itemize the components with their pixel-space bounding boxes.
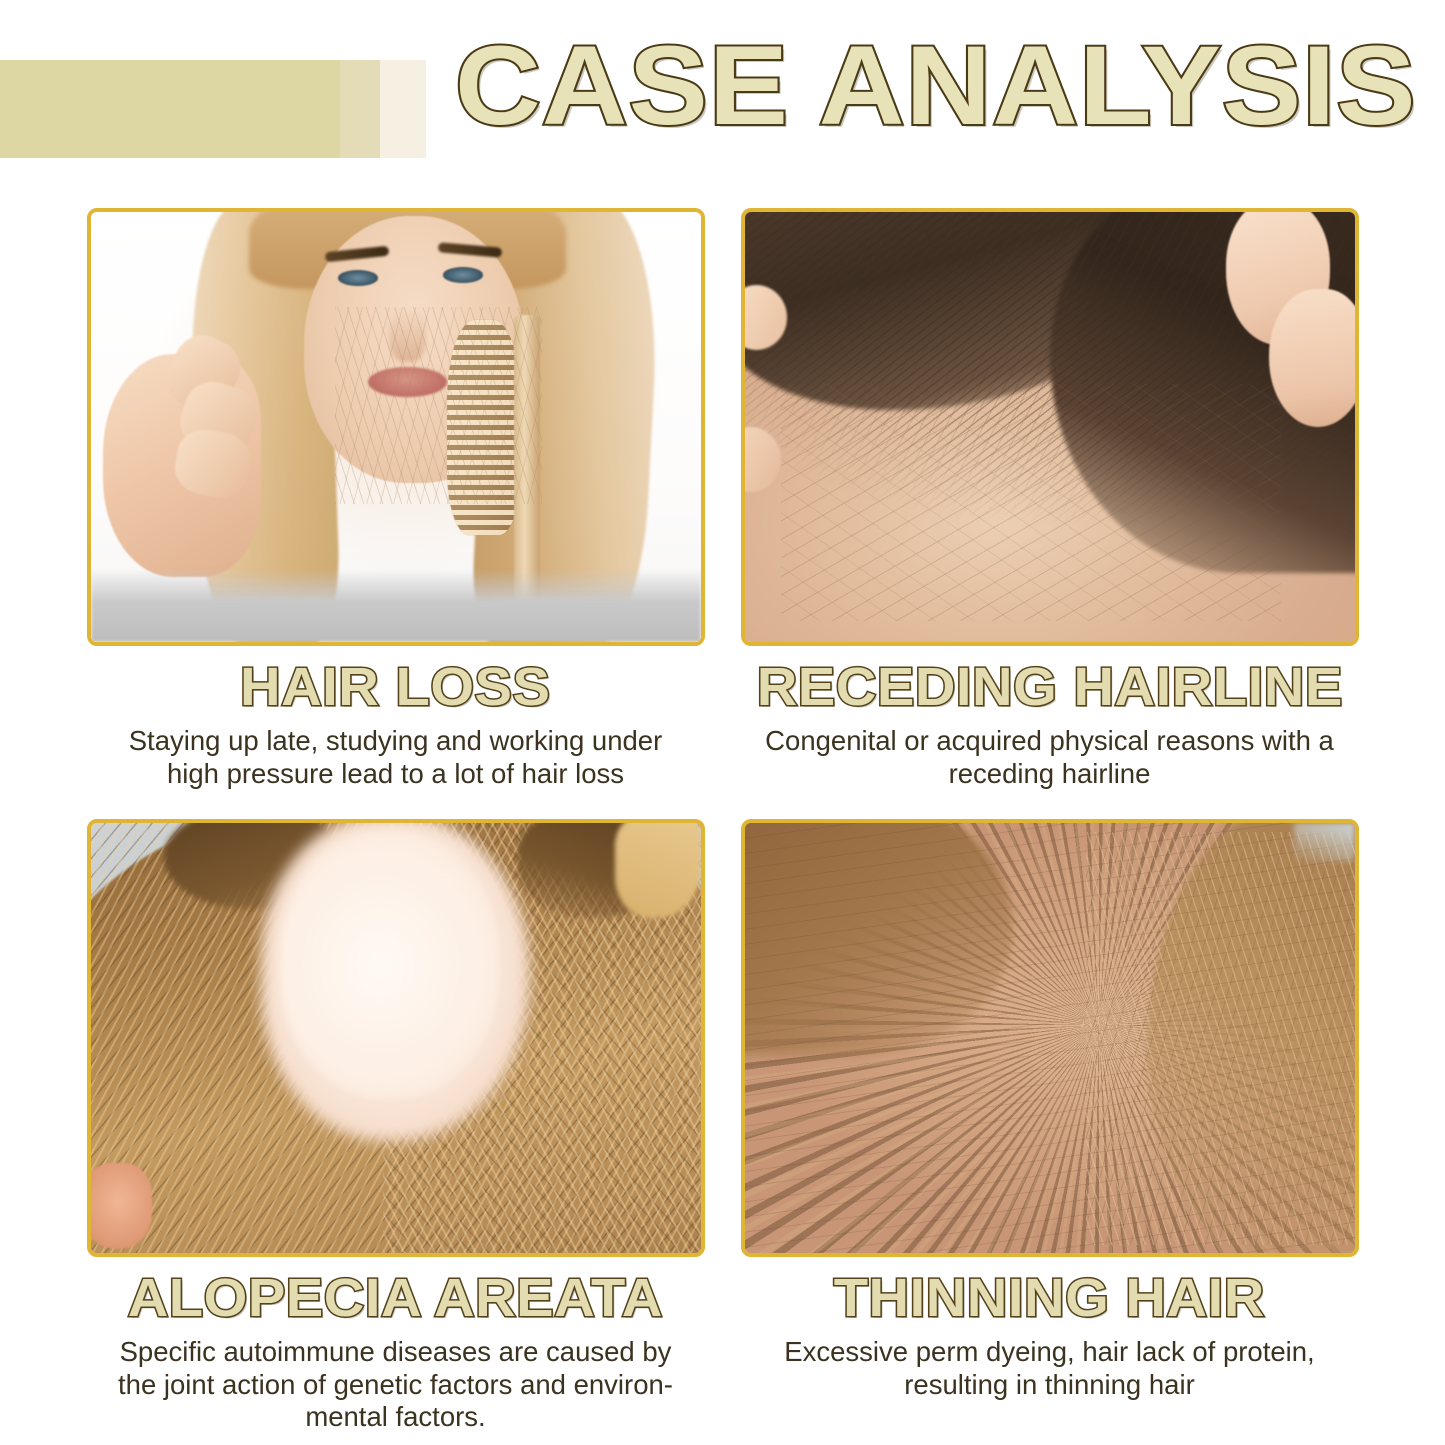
photo-frame-hair-loss xyxy=(87,208,705,646)
photo-thinning-hair xyxy=(745,823,1355,1253)
accent-bar-segment-3 xyxy=(380,60,426,158)
photo-receding-hairline xyxy=(745,212,1355,642)
card-description-thinning-hair: Excessive perm dyeing, hair lack of prot… xyxy=(760,1336,1340,1401)
card-description-hair-loss: Staying up late, studying and working un… xyxy=(106,725,686,790)
card-title-receding-hairline: RECEDING HAIRLINE xyxy=(756,660,1342,715)
case-card-hair-loss[interactable]: HAIR LOSS Staying up late, studying and … xyxy=(87,208,705,801)
card-title-alopecia-areata: ALOPECIA AREATA xyxy=(128,1271,663,1326)
case-card-thinning-hair[interactable]: THINNING HAIR Excessive perm dyeing, hai… xyxy=(741,819,1359,1445)
photo-frame-thinning-hair xyxy=(741,819,1359,1257)
card-title-thinning-hair: THINNING HAIR xyxy=(834,1271,1265,1326)
case-card-alopecia-areata[interactable]: ALOPECIA AREATA Specific autoimmune dise… xyxy=(87,819,705,1445)
blonde-hair-strip xyxy=(615,823,700,918)
sparse-hair-area xyxy=(781,384,1281,621)
page-header: CASE ANALYSIS xyxy=(0,0,1445,200)
page-title: CASE ANALYSIS xyxy=(455,30,1417,142)
card-description-alopecia-areata: Specific autoimmune diseases are caused … xyxy=(106,1336,686,1433)
bald-patch-core xyxy=(280,832,500,1099)
accent-bar-segment-1 xyxy=(0,60,340,158)
eye-left xyxy=(338,270,378,285)
loose-hair-strands xyxy=(335,307,542,505)
header-accent-bar xyxy=(0,60,426,158)
photo-alopecia-areata xyxy=(91,823,701,1253)
ear xyxy=(91,1163,152,1249)
shirt xyxy=(91,569,701,642)
photo-frame-receding-hairline xyxy=(741,208,1359,646)
case-card-receding-hairline[interactable]: RECEDING HAIRLINE Congenital or acquired… xyxy=(741,208,1359,801)
background-sky xyxy=(1294,823,1355,862)
photo-hair-loss xyxy=(91,212,701,642)
photo-frame-alopecia-areata xyxy=(87,819,705,1257)
eye-right xyxy=(443,267,483,282)
card-description-receding-hairline: Congenital or acquired physical reasons … xyxy=(760,725,1340,790)
card-title-hair-loss: HAIR LOSS xyxy=(240,660,550,715)
case-card-grid: HAIR LOSS Staying up late, studying and … xyxy=(0,200,1445,1445)
accent-bar-segment-2 xyxy=(340,60,380,158)
hair-strand-overlay xyxy=(745,823,1355,1253)
